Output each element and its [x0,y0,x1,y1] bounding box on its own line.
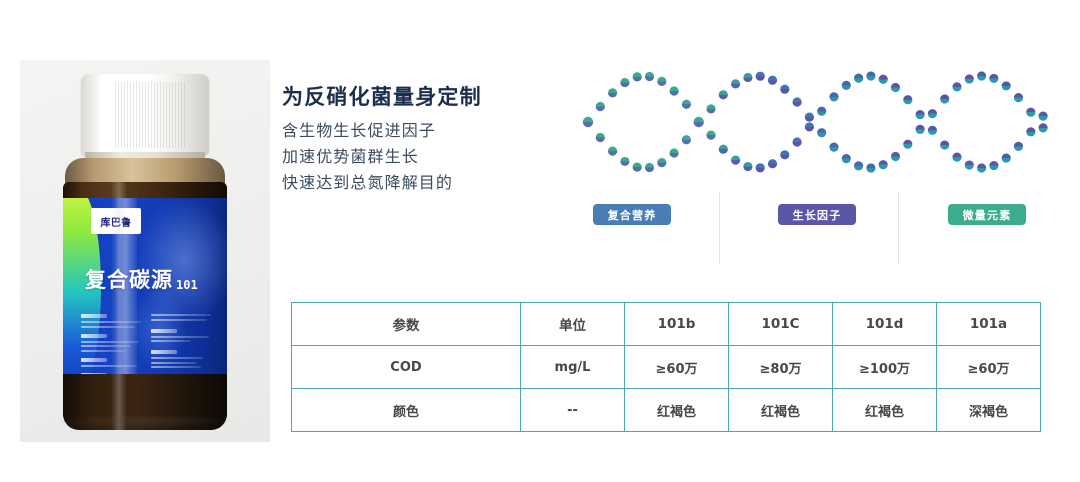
badge-label-1: 复合营养 [608,207,657,223]
badge-label-2: 生长因子 [793,207,842,223]
table-cell: -- [521,389,625,432]
table-cell: ≥60万 [937,346,1041,389]
table-header-cell: 单位 [521,303,625,346]
bottle-cap [81,74,209,156]
feature-badges: 复合营养 生长因子 微量元素 [580,204,1060,266]
subline-1: 含生物生长促进因子 [282,118,532,144]
label-product-title: 复合碳源 [85,264,173,294]
bottle-body: 库巴鲁 复合碳源 101 [63,182,227,430]
label-product-name: 复合碳源 101 [85,264,198,294]
table-cell: 颜色 [292,389,521,432]
table-cell: ≥60万 [625,346,729,389]
table-cell: ≥100万 [833,346,937,389]
label-fineprint-right [151,314,213,371]
table-header-cell: 参数 [292,303,521,346]
badge-growth-factor[interactable]: 生长因子 [778,204,856,225]
bottle-shine [111,182,127,430]
table-cell: 红褐色 [729,389,833,432]
headline-block: 为反硝化菌量身定制 含生物生长促进因子 加速优势菌群生长 快速达到总氮降解目的 [282,84,532,196]
table-header-cell: 101C [729,303,833,346]
product-photo: 库巴鲁 复合碳源 101 [20,60,270,442]
bottle-shadow [57,414,233,428]
table-cell: ≥80万 [729,346,833,389]
page-root: 库巴鲁 复合碳源 101 [0,0,1080,482]
spec-table: 参数 单位 101b 101C 101d 101a COD mg/L ≥60万 … [291,302,1041,432]
badge-label-3: 微量元素 [963,207,1012,223]
badge-divider-1 [719,192,720,264]
table-cell: 红褐色 [625,389,729,432]
subline-3: 快速达到总氮降解目的 [282,170,532,196]
table-header-cell: 101b [625,303,729,346]
bottle-label: 库巴鲁 复合碳源 101 [63,198,227,374]
badge-trace-elements[interactable]: 微量元素 [948,204,1026,225]
table-header-row: 参数 单位 101b 101C 101d 101a [292,303,1041,346]
badge-compound-nutrition[interactable]: 复合营养 [593,204,671,225]
product-bottle: 库巴鲁 复合碳源 101 [59,74,231,430]
table-cell: 深褐色 [937,389,1041,432]
dna-helix-graphic [580,52,1060,192]
table-cell: mg/L [521,346,625,389]
label-product-number: 101 [176,278,198,294]
table-header-cell: 101a [937,303,1041,346]
table-cell: 红褐色 [833,389,937,432]
table-row: 颜色 -- 红褐色 红褐色 红褐色 深褐色 [292,389,1041,432]
table-row: COD mg/L ≥60万 ≥80万 ≥100万 ≥60万 [292,346,1041,389]
cap-ribs [115,82,187,148]
badge-divider-2 [898,192,899,264]
table-header-cell: 101d [833,303,937,346]
page-title: 为反硝化菌量身定制 [282,84,532,110]
table-cell: COD [292,346,521,389]
dna-helix-svg [580,52,1060,192]
subline-2: 加速优势菌群生长 [282,144,532,170]
